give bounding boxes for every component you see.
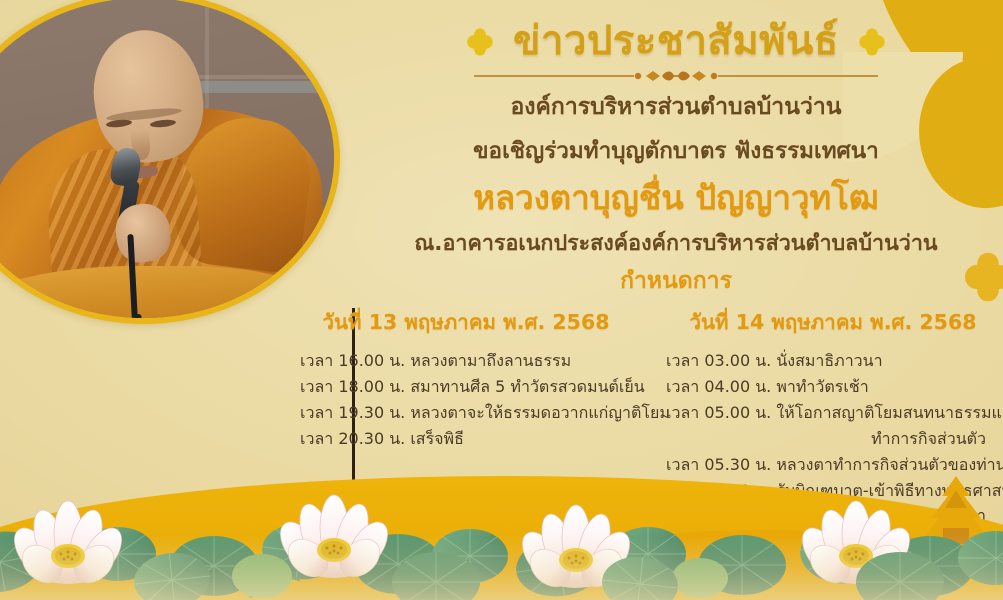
schedule-item: เวลา 20.30 น. เสร็จพิธี [300,426,632,452]
monk-photo: หลวงตาบุญชื่น ปัญญาวุทโฒ [0,0,340,324]
schedule-item: เวลา 16.00 น. หลวงตามาถึงลานธรรม [300,348,632,374]
monk-name: หลวงตาบุญชื่น ปัญญาวุทโฒ [352,174,1000,222]
venue-text: ณ.อาคารอเนกประสงค์องค์การบริหารส่วนตำบลบ… [352,228,1000,260]
invitation-text: ขอเชิญร่วมทำบุญตักบาตร ฟังธรรมเทศนา [352,133,1000,169]
ornate-divider-icon [466,69,886,83]
schedule-item: เวลา 04.00 น. พาทำวัตรเช้า [666,374,1000,400]
page-title: ข่าวประชาสัมพันธ์ [513,18,839,65]
wall-band [190,81,334,93]
organization-name: องค์การบริหารส่วนตำบลบ้านว่าน [352,90,1000,125]
title-row: ข่าวประชาสัมพันธ์ [352,18,1000,65]
schedule-item-continuation: ทำการกิจส่วนตัว [666,426,1000,452]
event-poster: หลวงตาบุญชื่น ปัญญาวุทโฒ ข่าวประชาสัมพัน… [0,0,1003,600]
schedule-item: เวลา 18.00 น. สมาทานศีล 5 ทำวัตรสวดมนต์เ… [300,374,632,400]
schedule-item: เวลา 03.00 น. นั่งสมาธิภาวนา [666,348,1000,374]
poster-header: ข่าวประชาสัมพันธ์ องค์การบริหารส่วนตำบลบ… [352,18,1000,298]
agenda-label: กำหนดการ [352,264,1000,299]
quatrefoil-ornament-left-icon [465,27,495,57]
schedule-item: เวลา 19.30 น. หลวงตาจะให้ธรรมดอวากแก่ญาต… [300,400,632,426]
day-two-heading: วันที่ 14 พฤษภาคม พ.ศ. 2568 [666,306,1000,339]
quatrefoil-ornament-right-icon [857,27,887,57]
lotus-decoration-row [0,470,1003,600]
day-one-heading: วันที่ 13 พฤษภาคม พ.ศ. 2568 [300,306,632,339]
schedule-item: เวลา 05.00 น. ให้โอกาสญาติโยมสนทนาธรรมแล… [666,400,1000,426]
